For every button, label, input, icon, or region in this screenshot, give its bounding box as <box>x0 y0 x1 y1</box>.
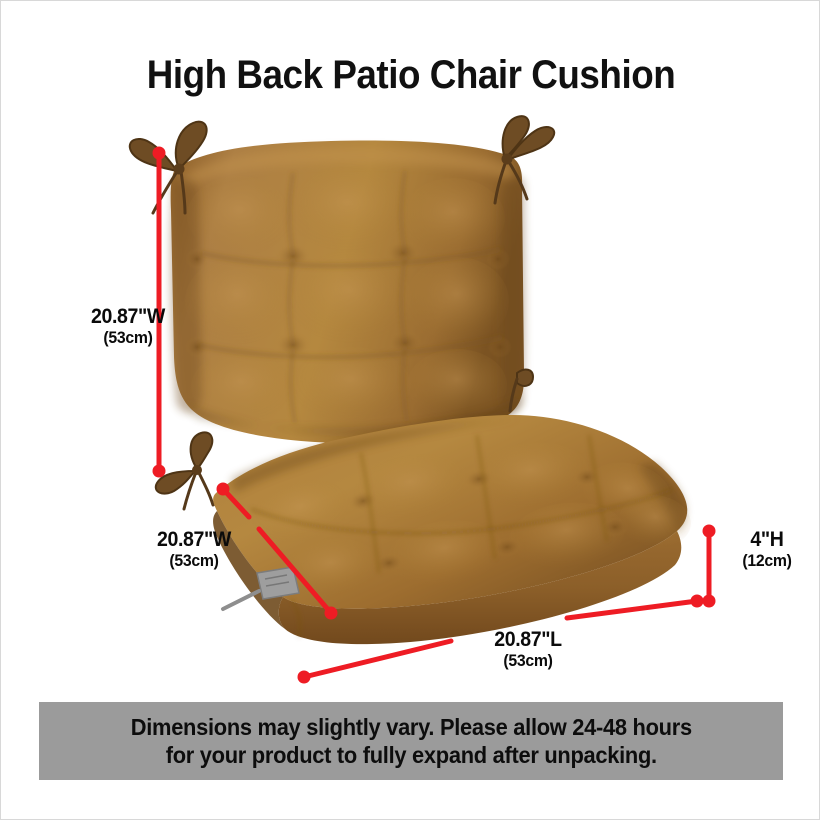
disclaimer-banner: Dimensions may slightly vary. Please all… <box>39 702 783 780</box>
dimension-value-seat-width: 20.87"W <box>134 529 255 552</box>
cushion-illustration <box>1 1 820 820</box>
cushion-backrest <box>171 141 525 443</box>
dimension-label-seat-length: 20.87"L (53cm) <box>453 629 603 670</box>
disclaimer-text: Dimensions may slightly vary. Please all… <box>121 713 701 769</box>
disclaimer-line-2: for your product to fully expand after u… <box>130 741 691 769</box>
disclaimer-line-1: Dimensions may slightly vary. Please all… <box>130 713 691 741</box>
dimension-value-back-width: 20.87"W <box>68 306 189 329</box>
dimension-label-seat-width: 20.87"W (53cm) <box>129 529 259 570</box>
dimension-value-seat-height: 4"H <box>722 529 811 552</box>
dimension-label-seat-height: 4"H (12cm) <box>719 529 815 570</box>
dimension-label-back-width: 20.87"W (53cm) <box>63 306 193 347</box>
dimension-value-seat-length: 20.87"L <box>458 629 598 652</box>
product-dimension-diagram: High Back Patio Chair Cushion <box>0 0 820 820</box>
dimension-metric-seat-length: (53cm) <box>458 652 598 670</box>
dimension-metric-back-width: (53cm) <box>68 329 189 347</box>
dimension-metric-seat-height: (12cm) <box>722 552 811 570</box>
dimension-metric-seat-width: (53cm) <box>134 552 255 570</box>
dimension-line-seat-height <box>703 525 716 608</box>
